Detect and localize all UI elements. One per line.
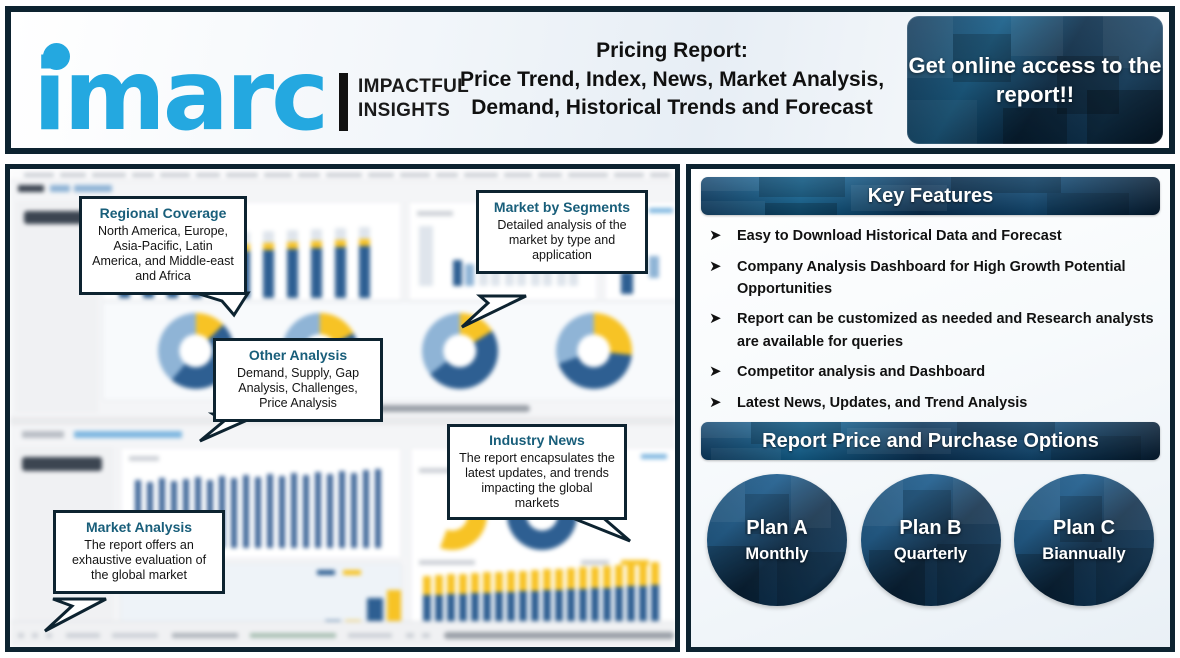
dashboard-preview-panel[interactable]: Regional Coverage North America, Europe,… xyxy=(5,164,680,652)
pricing-plans: Plan A Monthly Plan B Quarterly xyxy=(701,460,1160,606)
pricing-header: Report Price and Purchase Options xyxy=(701,422,1160,460)
key-features-list: ➤ Easy to Download Historical Data and F… xyxy=(701,215,1160,414)
callout-title: Market by Segments xyxy=(488,199,636,215)
plan-a-texture xyxy=(707,474,847,606)
callout-market-by-segments: Market by Segments Detailed analysis of … xyxy=(476,190,648,274)
callout-title: Market Analysis xyxy=(65,519,213,535)
arrow-bullet-icon: ➤ xyxy=(709,361,737,384)
key-features-header: Key Features xyxy=(701,177,1160,215)
plan-b-name: Plan B xyxy=(899,517,961,540)
get-online-access-button[interactable]: Get online access to the report!! xyxy=(907,16,1163,144)
feature-label: Report can be customized as needed and R… xyxy=(737,308,1156,353)
logo-divider xyxy=(339,73,348,131)
callout-other-analysis: Other Analysis Demand, Supply, Gap Analy… xyxy=(213,338,383,422)
feature-label: Easy to Download Historical Data and For… xyxy=(737,225,1062,247)
right-info-panel: Key Features ➤ Easy to Download Historic… xyxy=(686,164,1175,652)
feature-item: ➤ Latest News, Updates, and Trend Analys… xyxy=(709,392,1156,415)
plan-c-name: Plan C xyxy=(1053,517,1115,540)
callout-body: North America, Europe, Asia-Pacific, Lat… xyxy=(91,224,235,284)
pricing-title: Report Price and Purchase Options xyxy=(762,430,1099,453)
callout-title: Other Analysis xyxy=(225,347,371,363)
callout-market-analysis: Market Analysis The report offers an exh… xyxy=(53,510,225,594)
plan-b-button[interactable]: Plan B Quarterly xyxy=(861,474,1001,606)
plan-c-period: Biannually xyxy=(1042,545,1125,564)
feature-item: ➤ Company Analysis Dashboard for High Gr… xyxy=(709,256,1156,301)
feature-item: ➤ Easy to Download Historical Data and F… xyxy=(709,225,1156,248)
plan-c-texture xyxy=(1014,474,1154,606)
plan-c-button[interactable]: Plan C Biannually xyxy=(1014,474,1154,606)
arrow-bullet-icon: ➤ xyxy=(709,225,737,248)
page-title: Pricing Report: Price Trend, Index, News… xyxy=(443,37,901,122)
callout-body: The report offers an exhaustive evaluati… xyxy=(65,538,213,583)
callout-body: Detailed analysis of the market by type … xyxy=(488,218,636,263)
key-features-title: Key Features xyxy=(868,185,994,208)
callout-title: Industry News xyxy=(458,432,616,448)
feature-item: ➤ Competitor analysis and Dashboard xyxy=(709,361,1156,384)
header-banner: imarc IMPACTFUL INSIGHTS Pricing Report:… xyxy=(5,6,1175,154)
brand-logo: imarc IMPACTFUL INSIGHTS xyxy=(11,12,443,148)
arrow-bullet-icon: ➤ xyxy=(709,392,737,415)
callout-body: The report encapsulates the latest updat… xyxy=(458,451,616,511)
callout-industry-news: Industry News The report encapsulates th… xyxy=(447,424,627,520)
cta-label: Get online access to the report!! xyxy=(907,51,1163,109)
plan-b-period: Quarterly xyxy=(894,545,967,564)
logo-wordmark: imarc xyxy=(33,47,326,145)
poster-root: imarc IMPACTFUL INSIGHTS Pricing Report:… xyxy=(0,0,1180,658)
plan-a-button[interactable]: Plan A Monthly xyxy=(707,474,847,606)
feature-item: ➤ Report can be customized as needed and… xyxy=(709,308,1156,353)
plan-a-period: Monthly xyxy=(745,545,808,564)
callout-title: Regional Coverage xyxy=(91,205,235,221)
feature-label: Competitor analysis and Dashboard xyxy=(737,361,985,383)
callout-body: Demand, Supply, Gap Analysis, Challenges… xyxy=(225,366,371,411)
arrow-bullet-icon: ➤ xyxy=(709,256,737,279)
arrow-bullet-icon: ➤ xyxy=(709,308,737,331)
plan-a-name: Plan A xyxy=(746,517,808,540)
logo-tagline-line1: IMPACTFUL xyxy=(358,75,469,99)
logo-tagline: IMPACTFUL INSIGHTS xyxy=(358,75,469,123)
plan-b-texture xyxy=(861,474,1001,606)
callout-regional-coverage: Regional Coverage North America, Europe,… xyxy=(79,196,247,295)
feature-label: Latest News, Updates, and Trend Analysis xyxy=(737,392,1027,414)
logo-tagline-line2: INSIGHTS xyxy=(358,99,469,123)
feature-label: Company Analysis Dashboard for High Grow… xyxy=(737,256,1156,301)
